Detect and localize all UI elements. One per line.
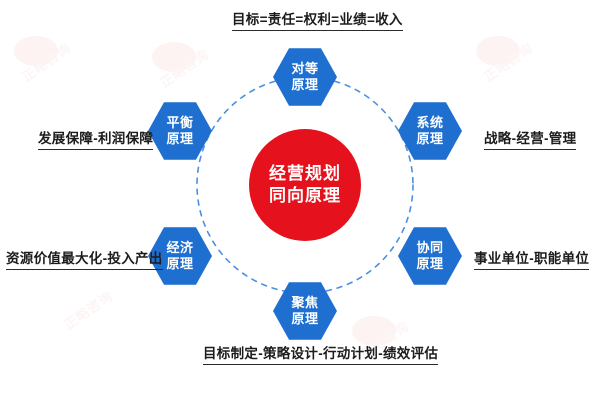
caption-left: 发展保障-利润保障: [38, 131, 153, 150]
caption-bottom: 目标制定-策略设计-行动计划-绩效评估: [203, 346, 438, 365]
hex-node-top-line1: 对等: [291, 61, 318, 77]
hex-node-bottom-line2: 原理: [291, 311, 318, 327]
hex-node-bottom-left-line1: 经济: [166, 240, 193, 256]
hex-node-bottom-left-line2: 原理: [166, 256, 193, 272]
hex-node-top-line2: 原理: [291, 77, 318, 93]
center-node-line2: 同向原理: [269, 185, 341, 207]
caption-bottom-right: 事业单位-职能单位: [474, 251, 589, 270]
hex-node-top-left-line1: 平衡: [166, 115, 193, 131]
hex-node-top-right-line1: 系统: [416, 115, 443, 131]
hex-node-bottom-right-line1: 协同: [416, 240, 443, 256]
diagram-canvas: 正略咨询 正略咨询 正略咨询 正略咨询 正略咨询 正略咨询 经营规划 同向原理 …: [0, 0, 600, 400]
hex-node-bottom-line1: 聚焦: [291, 295, 318, 311]
center-node: 经营规划 同向原理: [249, 129, 361, 241]
caption-right: 战略-经营-管理: [484, 131, 576, 150]
caption-bottom-left: 资源价值最大化-投入产出: [6, 251, 163, 270]
hex-node-top-left-line2: 原理: [166, 131, 193, 147]
hex-node-bottom-right-line2: 原理: [416, 256, 443, 272]
caption-top: 目标=责任=权利=业绩=收入: [232, 12, 403, 31]
center-node-line1: 经营规划: [269, 163, 341, 185]
hex-node-top-right-line2: 原理: [416, 131, 443, 147]
